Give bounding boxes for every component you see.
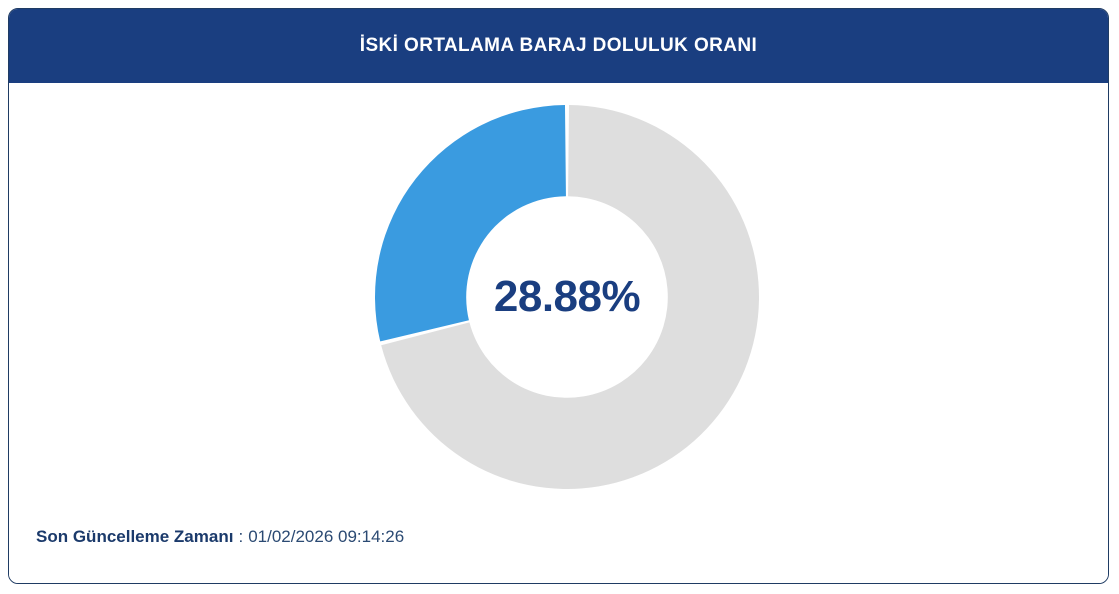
last-update-row: Son Güncelleme Zamanı : 01/02/2026 09:14… — [36, 527, 404, 547]
donut-slice — [375, 105, 566, 341]
donut-slices — [375, 105, 759, 489]
chart-area: 28.88% — [9, 83, 1108, 503]
donut-chart-svg — [375, 105, 759, 489]
page-title: İSKİ ORTALAMA BARAJ DOLULUK ORANI — [360, 35, 757, 57]
page-root: İSKİ ORTALAMA BARAJ DOLULUK ORANI 28.88%… — [0, 0, 1119, 594]
dam-occupancy-card: İSKİ ORTALAMA BARAJ DOLULUK ORANI 28.88%… — [8, 8, 1109, 584]
last-update-value: 01/02/2026 09:14:26 — [248, 527, 404, 547]
last-update-label: Son Güncelleme Zamanı — [36, 527, 233, 547]
last-update-separator: : — [233, 527, 248, 547]
card-body: 28.88% Son Güncelleme Zamanı : 01/02/202… — [9, 83, 1108, 583]
card-header: İSKİ ORTALAMA BARAJ DOLULUK ORANI — [9, 9, 1108, 83]
donut-chart: 28.88% — [375, 105, 759, 489]
